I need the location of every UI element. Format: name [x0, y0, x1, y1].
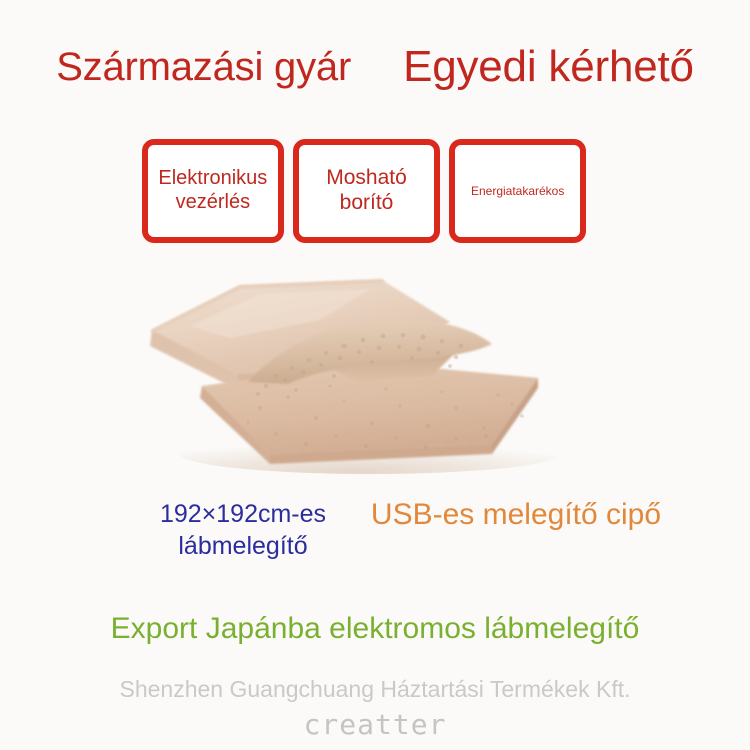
headline-row: Származási gyár Egyedi kérhető	[0, 36, 750, 98]
footer-export-line: Export Japánba elektromos lábmelegítő	[0, 612, 750, 646]
caption-row: 192×192cm-es lábmelegítő USB-es melegítő…	[0, 492, 750, 584]
badge-energy-saving: Energiatakarékos	[449, 139, 586, 243]
badge-washable-cover: Mosható borító	[293, 139, 441, 243]
product-poster: Származási gyár Egyedi kérhető Elektroni…	[0, 0, 750, 750]
footer-company-name: Shenzhen Guangchuang Háztartási Termékek…	[0, 676, 750, 703]
watermark-creatter: creatter	[0, 708, 750, 741]
caption-size-foot-warmer: 192×192cm-es lábmelegítő	[118, 498, 368, 562]
badge-electronic-control: Elektronikus vezérlés	[142, 139, 284, 243]
product-image	[120, 258, 620, 493]
headline-origin-factory: Származási gyár	[56, 46, 351, 88]
plush-foot-warmer-pillow-illustration	[120, 258, 620, 493]
headline-custom-available: Egyedi kérhető	[403, 44, 694, 90]
feature-badge-group: Elektronikus vezérlés Mosható borító Ene…	[142, 139, 586, 243]
caption-usb-heated-shoe: USB-es melegítő cipő	[356, 496, 676, 534]
